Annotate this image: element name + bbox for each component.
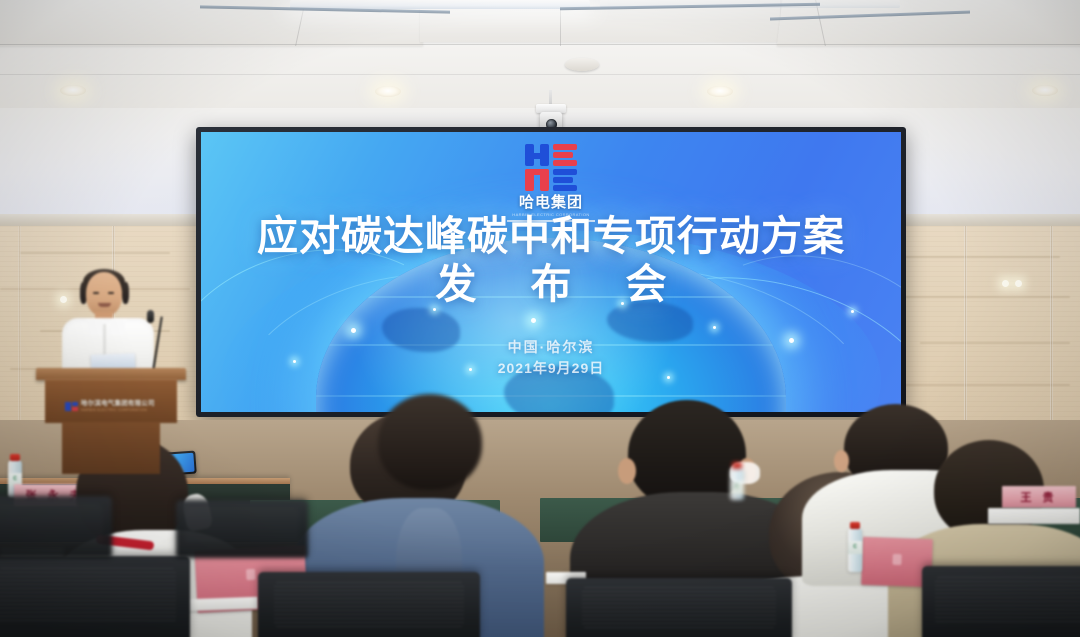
podium-front-panel: 哈尔滨电气集团有限公司 HARBIN ELECTRIC CORPORATION bbox=[45, 379, 177, 423]
podium-brand-en: HARBIN ELECTRIC CORPORATION bbox=[81, 409, 155, 412]
documents-sheet bbox=[186, 597, 258, 612]
conference-chair[interactable] bbox=[922, 566, 1080, 637]
logo-company-name-cn: 哈电集团 bbox=[503, 195, 599, 211]
ceiling bbox=[0, 0, 1080, 112]
conference-chair[interactable] bbox=[566, 578, 792, 637]
slide-title-line1: 应对碳达峰碳中和专项行动方案 bbox=[201, 216, 901, 258]
led-display-screen[interactable]: 哈电集团 HARBIN ELECTRIC CORPORATION 应对碳达峰碳中… bbox=[196, 127, 906, 417]
speaking-podium: 哈尔滨电气集团有限公司 HARBIN ELECTRIC CORPORATION bbox=[36, 368, 186, 473]
podium-base bbox=[62, 422, 160, 474]
conference-chair[interactable] bbox=[0, 496, 112, 558]
slide-location: 中国·哈尔滨 bbox=[201, 337, 901, 357]
downlight bbox=[60, 85, 86, 96]
speaker-head bbox=[86, 272, 122, 316]
water-bottle: C bbox=[848, 528, 862, 572]
conference-chair[interactable] bbox=[176, 500, 308, 558]
slide-content: 哈电集团 HARBIN ELECTRIC CORPORATION 应对碳达峰碳中… bbox=[201, 132, 901, 412]
wall-light-reflection bbox=[1002, 280, 1009, 287]
company-flag-icon bbox=[65, 402, 78, 411]
nameplate-right-text: 王 贵 bbox=[1020, 489, 1057, 505]
downlight bbox=[1032, 85, 1058, 96]
conference-room-photo: 哈电集团 HARBIN ELECTRIC CORPORATION 应对碳达峰碳中… bbox=[0, 0, 1080, 637]
microphone-icon bbox=[147, 310, 154, 323]
downlight bbox=[375, 86, 401, 97]
audience-member-rear-center bbox=[360, 394, 500, 514]
person-head bbox=[378, 394, 482, 490]
wall-light-reflection bbox=[1015, 280, 1022, 287]
smoke-detector-icon bbox=[565, 58, 599, 71]
person-ear bbox=[834, 450, 849, 472]
documents-stack bbox=[988, 508, 1080, 524]
company-logo: 哈电集团 HARBIN ELECTRIC CORPORATION bbox=[503, 144, 599, 222]
person-ear bbox=[618, 458, 636, 484]
nameplate-right: 王 贵 bbox=[1002, 486, 1076, 508]
water-bottle: C bbox=[730, 468, 744, 500]
podium-brand-cn: 哈尔滨电气集团有限公司 bbox=[81, 401, 155, 408]
conference-chair[interactable] bbox=[258, 572, 480, 637]
speaker-mouth bbox=[98, 303, 111, 307]
conference-chair[interactable] bbox=[0, 556, 190, 637]
downlight bbox=[707, 86, 733, 97]
slide-title-line2: 发布会 bbox=[201, 264, 901, 306]
slide-date: 2021年9月29日 bbox=[201, 358, 901, 378]
he-monogram-icon bbox=[523, 144, 579, 192]
podium-branding: 哈尔滨电气集团有限公司 HARBIN ELECTRIC CORPORATION bbox=[65, 401, 155, 412]
